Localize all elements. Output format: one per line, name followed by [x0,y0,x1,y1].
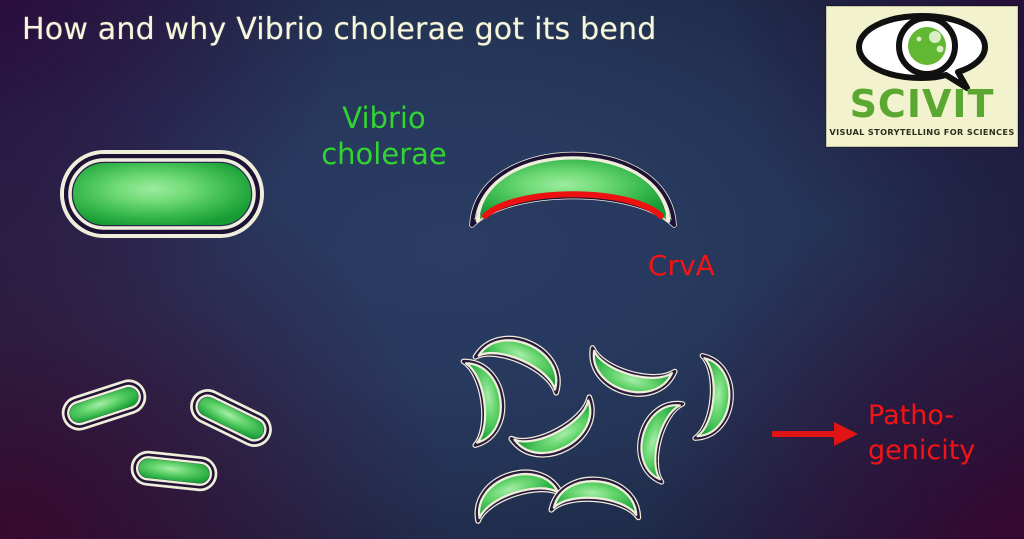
pathogenicity-arrow [772,422,858,446]
logo-tagline: VISUAL STORYTELLING FOR SCIENCES [827,127,1017,137]
slide-canvas: How and why Vibrio cholerae got its bend [0,0,1024,539]
straight-rod-cluster [59,377,276,491]
page-title: How and why Vibrio cholerae got its bend [22,12,656,47]
curved-cell-cluster [463,325,734,521]
scivit-logo: SCIVIT VISUAL STORYTELLING FOR SCIENCES [826,6,1018,147]
label-vibrio-cholerae: Vibrio cholerae [288,100,480,173]
straight-rod-cell-large [62,152,262,236]
label-crva: CrvA [648,248,715,283]
label-pathogenicity: Patho- genicity [868,398,975,468]
eye-in-speech-bubble-icon [851,13,993,91]
logo-wordmark: SCIVIT [827,85,1017,123]
curved-cell-large-with-crva [472,155,674,226]
